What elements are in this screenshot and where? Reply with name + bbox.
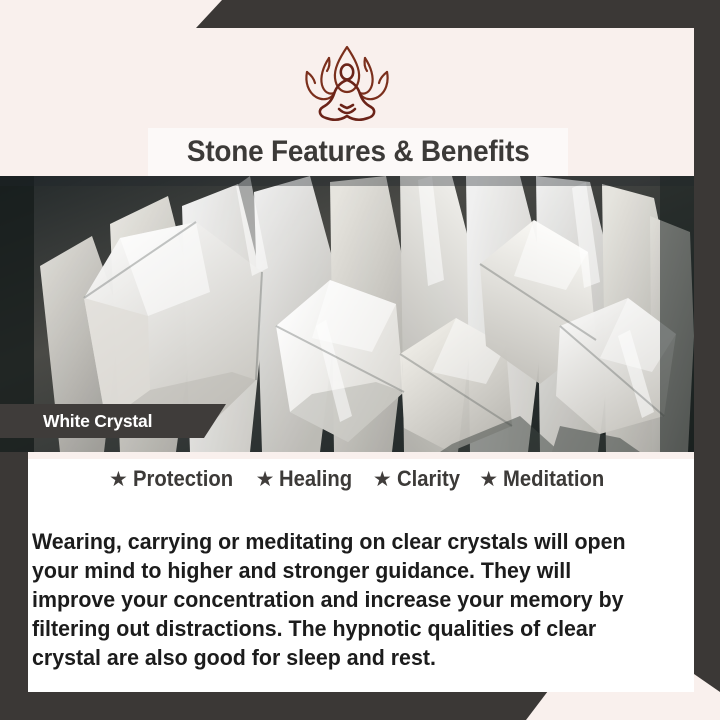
stone-info-card: BUDDHA STONES Stone Features & Benefits	[0, 0, 720, 720]
page-title: Stone Features & Benefits	[187, 135, 530, 169]
content-panel: ★ Protection ★ Healing ★ Clarity ★ Medit…	[28, 452, 694, 692]
frame-bar-top	[196, 0, 720, 28]
benefit-item-clarity: ★ Clarity	[373, 466, 465, 492]
lotus-meditation-figure-icon	[289, 42, 405, 131]
star-icon: ★	[479, 469, 498, 490]
benefit-label: Clarity	[397, 466, 460, 492]
benefit-label: Meditation	[503, 466, 604, 492]
frame-bar-left	[0, 452, 28, 692]
star-icon: ★	[109, 469, 128, 490]
frame-bar-right	[694, 28, 720, 692]
benefit-item-meditation: ★ Meditation	[479, 466, 613, 492]
benefits-list: ★ Protection ★ Healing ★ Clarity ★ Medit…	[28, 466, 694, 492]
stone-name-tag: White Crystal	[0, 404, 226, 438]
stone-name-label: White Crystal	[43, 411, 152, 432]
frame-bar-bottom	[0, 691, 548, 720]
page-title-plate: Stone Features & Benefits	[148, 128, 568, 176]
star-icon: ★	[256, 469, 275, 490]
star-icon: ★	[373, 469, 392, 490]
benefit-item-protection: ★ Protection	[109, 466, 242, 492]
stone-description: Wearing, carrying or meditating on clear…	[32, 527, 650, 672]
panel-top-tint	[28, 452, 694, 459]
benefit-label: Protection	[133, 466, 233, 492]
benefit-item-healing: ★ Healing	[256, 466, 359, 492]
benefit-label: Healing	[279, 466, 352, 492]
